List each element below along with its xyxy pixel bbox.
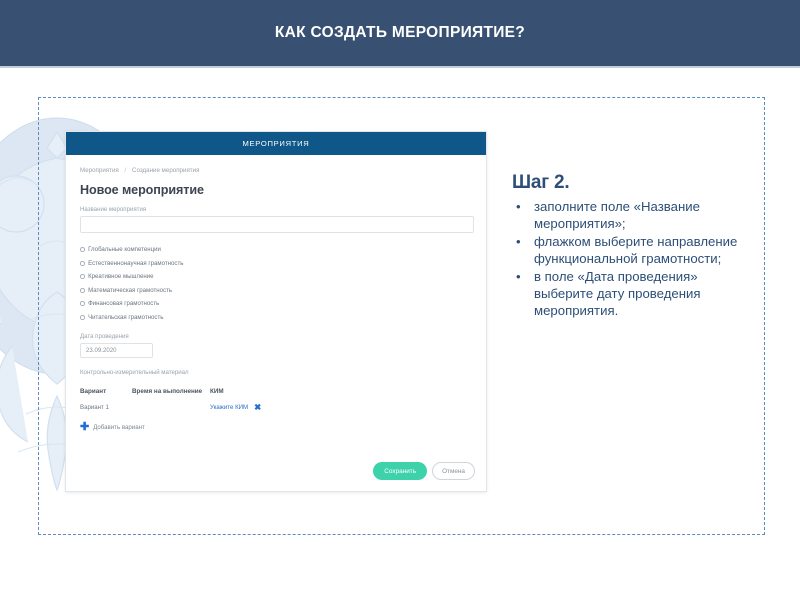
radio-option-label: Креативное мышление (88, 273, 153, 280)
kim-column-header-time: Время на выполнение (132, 388, 210, 395)
kim-section-label: Контрольно-измерительный материал (80, 369, 472, 376)
breadcrumb-item-root[interactable]: Мероприятия (80, 167, 119, 174)
kim-column-header-kim: КИМ (210, 388, 472, 395)
instructions-panel: Шаг 2. • заполните поле «Название меропр… (512, 172, 744, 320)
kim-table-header-row: Вариант Время на выполнение КИМ (80, 383, 472, 399)
form-actions: Сохранить Отмена (373, 462, 475, 480)
date-field-group: Дата проведения 23.09.2020 (80, 333, 472, 358)
save-button[interactable]: Сохранить (373, 462, 427, 480)
radio-option-label: Глобальные компетенции (88, 246, 161, 253)
radio-option-global-competencies[interactable]: Глобальные компетенции (80, 243, 472, 257)
form-title: Новое мероприятие (80, 183, 472, 197)
plus-icon: ✚ (80, 422, 89, 433)
kim-column-header-variant: Вариант (80, 388, 132, 395)
app-body: Мероприятия / Создание мероприятия Новое… (66, 155, 486, 433)
radio-option-math-literacy[interactable]: Математическая грамотность (80, 284, 472, 298)
kim-cell-variant: Вариант 1 (80, 404, 132, 411)
radio-circle-icon[interactable] (80, 301, 85, 306)
radio-circle-icon[interactable] (80, 315, 85, 320)
list-item-text: флажком выберите направление функциональ… (534, 234, 737, 266)
radio-option-label: Естественнонаучная грамотность (88, 260, 183, 267)
list-item: • в поле «Дата проведения» выберите дату… (512, 268, 744, 320)
table-row: Вариант 1 Укажите КИМ ✖ (80, 399, 472, 415)
radio-option-creative-thinking[interactable]: Креативное мышление (80, 270, 472, 284)
app-screenshot-card: МЕРОПРИЯТИЯ Мероприятия / Создание мероп… (65, 131, 487, 492)
instruction-list: • заполните поле «Название мероприятия»;… (512, 198, 744, 320)
breadcrumb-item-current: Создание мероприятия (132, 167, 199, 174)
bullet-icon: • (516, 198, 521, 215)
add-variant-label: Добавить вариант (93, 424, 145, 431)
radio-circle-icon[interactable] (80, 247, 85, 252)
slide-canvas: КАК СОЗДАТЬ МЕРОПРИЯТИЕ? МЕРОПРИЯТИЯ Мер… (0, 0, 800, 600)
bullet-icon: • (516, 233, 521, 250)
page-title: КАК СОЗДАТЬ МЕРОПРИЯТИЕ? (275, 24, 525, 42)
list-item-text: заполните поле «Название мероприятия»; (534, 199, 700, 231)
radio-circle-icon[interactable] (80, 274, 85, 279)
competency-radio-group: Глобальные компетенции Естественнонаучна… (80, 243, 472, 324)
radio-option-financial-literacy[interactable]: Финансовая грамотность (80, 297, 472, 311)
radio-circle-icon[interactable] (80, 288, 85, 293)
app-header-bar: МЕРОПРИЯТИЯ (66, 132, 486, 155)
radio-option-label: Читательская грамотность (88, 314, 163, 321)
radio-option-reading-literacy[interactable]: Читательская грамотность (80, 311, 472, 325)
bullet-icon: • (516, 268, 521, 285)
slide-header-bar: КАК СОЗДАТЬ МЕРОПРИЯТИЕ? (0, 0, 800, 66)
list-item-text: в поле «Дата проведения» выберите дату п… (534, 269, 701, 319)
radio-option-science-literacy[interactable]: Естественнонаучная грамотность (80, 257, 472, 271)
name-field-label: Название мероприятия (80, 206, 472, 213)
kim-cell-kim: Укажите КИМ ✖ (210, 403, 472, 412)
date-input-value: 23.09.2020 (86, 347, 117, 354)
date-input[interactable]: 23.09.2020 (80, 343, 153, 358)
radio-option-label: Математическая грамотность (88, 287, 172, 294)
radio-option-label: Финансовая грамотность (88, 300, 159, 307)
cancel-button[interactable]: Отмена (432, 462, 475, 480)
step-heading: Шаг 2. (512, 172, 744, 194)
app-header-title: МЕРОПРИЯТИЯ (243, 139, 310, 148)
add-variant-button[interactable]: ✚ Добавить вариант (80, 422, 472, 433)
specify-kim-link[interactable]: Укажите КИМ (210, 404, 248, 411)
close-x-icon[interactable]: ✖ (254, 403, 261, 412)
list-item: • флажком выберите направление функциона… (512, 233, 744, 268)
kim-section: Контрольно-измерительный материал Вариан… (80, 369, 472, 433)
breadcrumb: Мероприятия / Создание мероприятия (80, 167, 472, 174)
date-field-label: Дата проведения (80, 333, 472, 340)
list-item: • заполните поле «Название мероприятия»; (512, 198, 744, 233)
header-divider (0, 66, 800, 68)
kim-table: Вариант Время на выполнение КИМ Вариант … (80, 383, 472, 415)
breadcrumb-separator: / (125, 167, 127, 174)
name-field-group: Название мероприятия (80, 206, 472, 234)
radio-circle-icon[interactable] (80, 261, 85, 266)
event-name-input[interactable] (80, 216, 474, 233)
